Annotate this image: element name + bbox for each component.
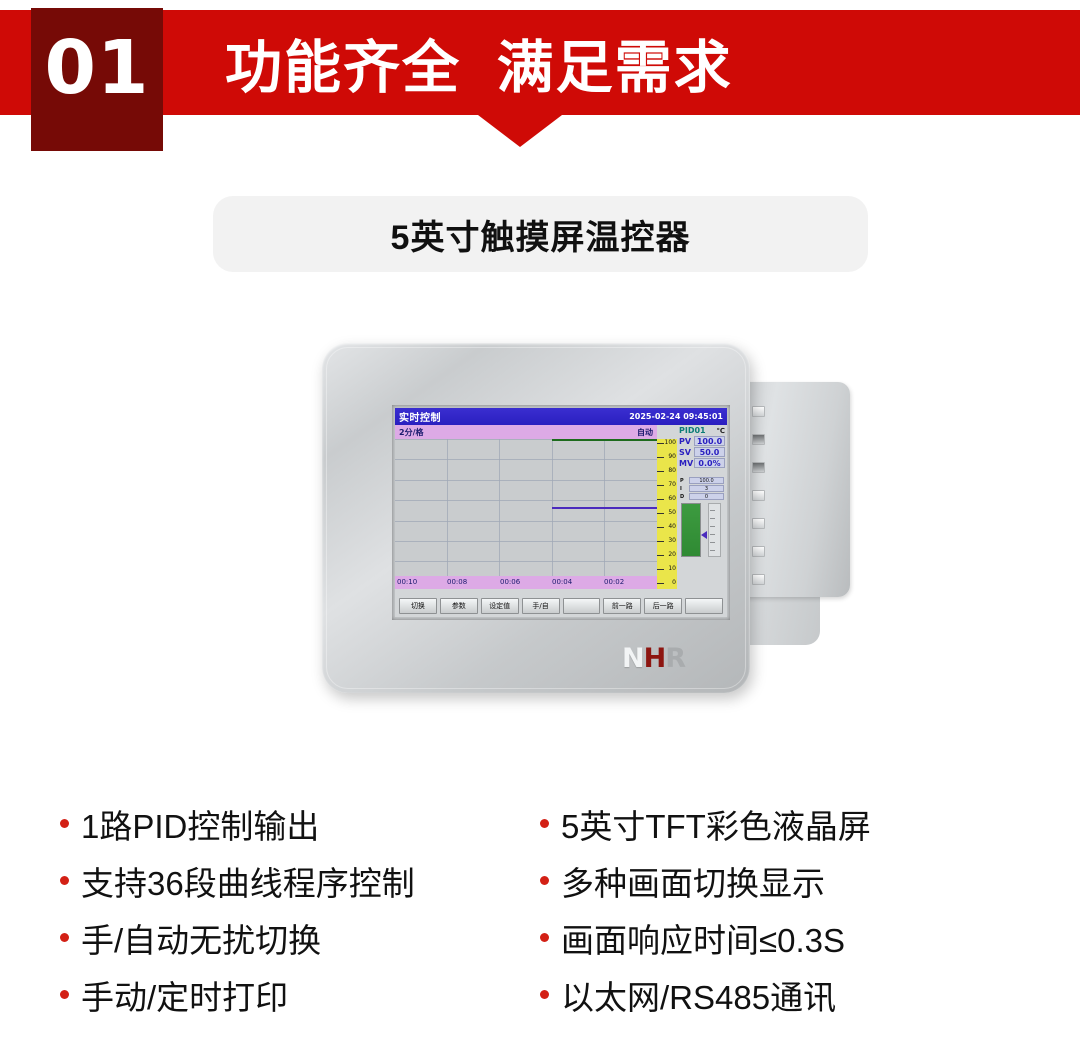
i-value[interactable]: 3 [689,485,724,492]
y-tick: 30 [657,537,677,544]
output-scale-bar [708,503,721,557]
vent-slot [752,518,765,529]
setpoint-marker-icon [701,531,707,539]
feature-item: 画面响应时间≤0.3S [540,909,1000,966]
feature-column-left: 1路PID控制输出 支持36段曲线程序控制 手/自动无扰切换 手动/定时打印 [60,795,540,1025]
time-scale-label: 2分/格 [399,427,424,438]
param-d: D 0 [677,493,727,500]
feature-column-right: 5英寸TFT彩色液晶屏 多种画面切换显示 画面响应时间≤0.3S 以太网/RS4… [540,795,1000,1025]
mv-value[interactable]: 0.0% [694,458,725,468]
feature-text: 以太网/RS485通讯 [561,971,836,1019]
vent-slot [752,462,765,473]
feature-item: 多种画面切换显示 [540,852,1000,909]
vent-slot [752,434,765,445]
time-tick: 00:06 [500,578,520,586]
readout-pv: PV 100.0 [677,436,727,446]
feature-item: 手动/定时打印 [60,966,540,1023]
bullet-icon [60,933,69,942]
feature-text: 5英寸TFT彩色液晶屏 [561,800,871,848]
channel-header: PID01 ℃ [677,425,727,435]
sv-value[interactable]: 50.0 [694,447,725,457]
feature-item: 5英寸TFT彩色液晶屏 [540,795,1000,852]
softkey-prev-channel[interactable]: 前一路 [603,598,641,614]
y-tick: 70 [657,481,677,488]
bullet-icon [60,819,69,828]
softkey-setpoint[interactable]: 设定值 [481,598,519,614]
y-tick: 40 [657,523,677,530]
trend-line-pv [552,439,657,441]
product-name-pill: 5英寸触摸屏温控器 [213,196,868,272]
bullet-icon [60,990,69,999]
y-tick: 90 [657,453,677,460]
softkey-blank-2[interactable] [685,598,723,614]
brand-letter-r: R [665,643,685,674]
feature-text: 手动/定时打印 [81,971,288,1019]
feature-text: 支持36段曲线程序控制 [81,857,415,905]
feature-text: 画面响应时间≤0.3S [561,914,845,962]
page-root: 01 功能齐全 满足需求 5英寸触摸屏温控器 实时控制 2025-02-24 0… [0,0,1080,1061]
softkey-params[interactable]: 参数 [440,598,478,614]
pv-label: PV [679,437,692,446]
trend-line-sv [552,507,657,509]
header-notch [478,115,562,147]
softkey-manual-auto[interactable]: 手/自 [522,598,560,614]
gridline-h [395,561,657,562]
p-value[interactable]: 100.0 [689,477,724,484]
vent-slot [752,490,765,501]
hmi-screen[interactable]: 实时控制 2025-02-24 09:45:01 2分/格 自动 [395,408,727,617]
d-label: D [680,494,687,500]
softkey-row: 切换 参数 设定值 手/自 前一路 后一路 [395,591,727,617]
mv-bargraph [681,503,701,557]
time-tick: 00:10 [397,578,417,586]
mv-label: MV [679,459,692,468]
screen-subbar: 2分/格 自动 [395,425,657,439]
screen-titlebar: 实时控制 2025-02-24 09:45:01 [395,408,727,425]
i-label: I [680,486,687,492]
brand-letter-n: N [622,643,644,674]
readout-sv: SV 50.0 [677,447,727,457]
channel-name: PID01 [679,426,706,435]
feature-item: 以太网/RS485通讯 [540,966,1000,1023]
d-value[interactable]: 0 [689,493,724,500]
bullet-icon [540,990,549,999]
softkey-switch[interactable]: 切换 [399,598,437,614]
y-tick: 50 [657,509,677,516]
feature-item: 手/自动无扰切换 [60,909,540,966]
time-tick: 00:04 [552,578,572,586]
readout-panel: PID01 ℃ PV 100.0 SV 50.0 MV [677,425,727,589]
bullet-icon [540,933,549,942]
unit-label: ℃ [717,427,725,435]
device-lcd: 实时控制 2025-02-24 09:45:01 2分/格 自动 [392,405,730,620]
y-tick: 10 [657,565,677,572]
sv-label: SV [679,448,692,457]
control-mode-label: 自动 [637,427,653,438]
brand-logo: NHR [622,643,685,674]
softkey-next-channel[interactable]: 后一路 [644,598,682,614]
gridline-v [447,439,448,576]
vent-slot [752,574,765,585]
trend-plot-area [395,439,657,576]
device-bezel: 实时控制 2025-02-24 09:45:01 2分/格 自动 [322,343,750,693]
pv-value[interactable]: 100.0 [694,436,725,446]
vent-slot [752,406,765,417]
feature-text: 多种画面切换显示 [561,857,825,905]
feature-list: 1路PID控制输出 支持36段曲线程序控制 手/自动无扰切换 手动/定时打印 5… [60,795,1020,1025]
time-tick: 00:08 [447,578,467,586]
param-i: I 3 [677,485,727,492]
page-title: 功能齐全 满足需求 [225,19,733,107]
y-tick: 0 [657,579,677,586]
readout-mv: MV 0.0% [677,458,727,468]
param-p: P 100.0 [677,477,727,484]
softkey-blank-1[interactable] [563,598,601,614]
section-number: 01 [31,8,163,128]
time-axis: 00:10 00:08 00:06 00:04 00:02 [395,576,657,589]
gridline-h [395,480,657,481]
y-tick: 20 [657,551,677,558]
gridline-h [395,459,657,460]
y-axis-scale: 100 90 80 70 60 50 40 30 20 10 0 [657,439,677,589]
feature-text: 手/自动无扰切换 [81,914,321,962]
bullet-icon [540,819,549,828]
brand-letter-h: H [644,643,666,674]
gridline-h [395,541,657,542]
bullet-icon [60,876,69,885]
screen-title: 实时控制 [399,409,441,424]
y-tick: 80 [657,467,677,474]
screen-datetime: 2025-02-24 09:45:01 [629,412,723,421]
vent-slot [752,546,765,557]
product-name-text: 5英寸触摸屏温控器 [391,210,691,259]
gridline-v [499,439,500,576]
time-tick: 00:02 [604,578,624,586]
gridline-h [395,521,657,522]
feature-item: 1路PID控制输出 [60,795,540,852]
bullet-icon [540,876,549,885]
feature-text: 1路PID控制输出 [81,800,319,848]
gridline-h [395,500,657,501]
p-label: P [680,478,687,484]
y-tick: 100 [657,439,677,446]
feature-item: 支持36段曲线程序控制 [60,852,540,909]
device-photo: 实时控制 2025-02-24 09:45:01 2分/格 自动 [300,335,860,715]
y-tick: 60 [657,495,677,502]
output-bar-zone [677,503,727,558]
